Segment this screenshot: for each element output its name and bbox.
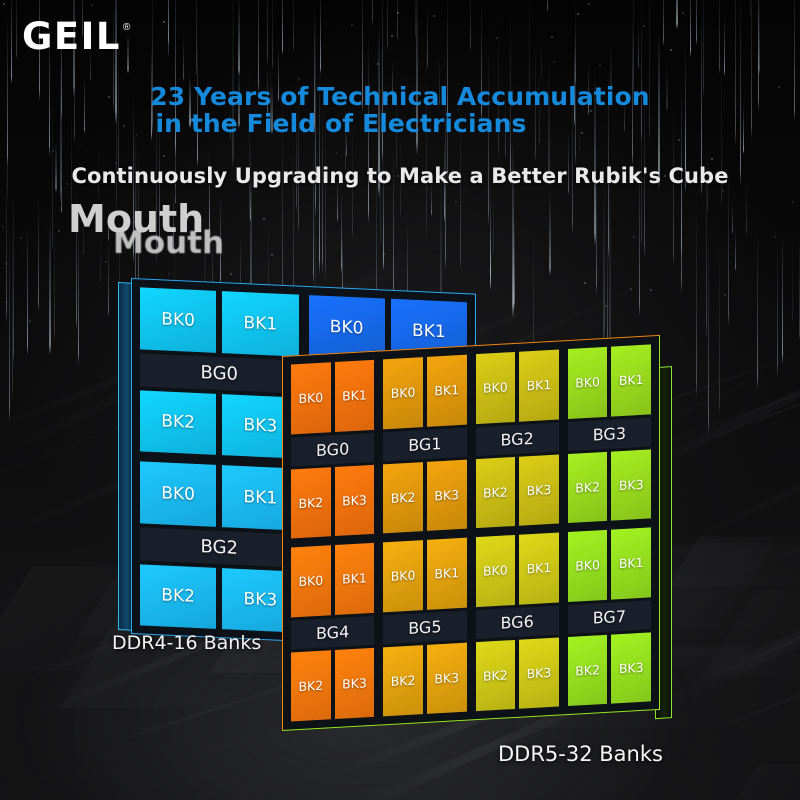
rain-streak (777, 239, 778, 377)
bank-cell: BK2 (291, 650, 331, 722)
bank-cell: BK3 (335, 464, 375, 536)
rain-streak (267, 0, 268, 65)
rain-streak (108, 239, 109, 317)
rain-streak (782, 229, 783, 364)
rain-streak (293, 0, 294, 52)
rain-dot (577, 13, 579, 15)
rain-streak (696, 0, 697, 45)
rain-streak (250, 185, 251, 221)
bank-cell: BK0 (383, 540, 423, 612)
bank-cell: BK3 (427, 459, 467, 531)
bank-row-bottom: BK2BK3 (291, 464, 374, 538)
rain-streak (799, 234, 800, 341)
bank-row-top: BK0BK1 (291, 543, 374, 617)
rain-dot (792, 201, 794, 203)
rain-dot (678, 139, 680, 141)
bank-group: BK0BK1BG3BK2BK3 (565, 341, 654, 526)
bank-cell: BK0 (476, 352, 516, 424)
rain-streak (792, 234, 793, 324)
rain-dot (633, 236, 635, 238)
ddr5-diagram: BK0BK1BG0BK2BK3BK0BK1BG1BK2BK3BK0BK1BG2B… (282, 356, 672, 731)
rain-streak (341, 193, 342, 273)
rain-streak (258, 0, 259, 93)
rain-streak (724, 16, 725, 76)
bank-cell: BK1 (611, 527, 651, 599)
bank-row-bottom: BK2BK3 (291, 647, 374, 721)
bank-cell: BK2 (140, 564, 216, 629)
bank-row-top: BK0BK1 (568, 344, 651, 418)
rain-dot (496, 37, 498, 39)
rain-streak (696, 200, 697, 397)
bank-cell: BK2 (291, 467, 331, 539)
bank-cell: BK3 (519, 637, 559, 709)
rain-streak (49, 219, 51, 355)
rain-streak (415, 0, 416, 39)
rain-dot (724, 294, 726, 296)
bank-row-top: BK0BK1 (383, 538, 466, 612)
bank-cell: BK0 (291, 362, 331, 434)
rain-dot (599, 64, 601, 66)
rain-dot (105, 261, 107, 263)
bank-group-label: BG0 (291, 432, 374, 466)
rain-streak (16, 0, 17, 60)
rain-streak (750, 0, 751, 19)
logo-wordmark: GEIL (22, 18, 121, 55)
rain-dot (91, 4, 93, 6)
bank-row-top: BK0BK1 (476, 533, 559, 607)
bank-row-top: BK0BK1 (476, 350, 559, 424)
ddr5-caption: DDR5-32 Banks (498, 742, 663, 766)
bank-row-bottom: BK2BK3 (383, 459, 466, 533)
bank-cell: BK1 (611, 344, 651, 416)
bank-cell: BK0 (140, 287, 216, 352)
headline-line-1: 23 Years of Technical Accumulation (150, 82, 649, 111)
bank-cell: BK2 (476, 456, 516, 528)
rain-dot (336, 152, 338, 154)
rain-streak (78, 228, 79, 364)
rain-streak (13, 186, 14, 365)
rain-dot (230, 273, 232, 275)
rain-dot (3, 3, 5, 5)
rain-streak (719, 0, 720, 74)
bank-cell: BK1 (427, 538, 467, 610)
bank-cell: BK2 (140, 390, 216, 455)
bank-group-label: BG4 (291, 615, 374, 649)
bank-row-bottom: BK2BK3 (476, 454, 559, 528)
rain-streak (238, 0, 240, 76)
watermark-mouth-secondary: Mouth (113, 228, 224, 259)
rain-streak (547, 0, 548, 11)
bank-row-top: BK0BK1 (291, 360, 374, 434)
bank-cell: BK2 (383, 462, 423, 534)
rain-dot (298, 78, 300, 80)
bank-row-bottom: BK2BK3 (140, 390, 299, 459)
bank-cell: BK0 (568, 347, 608, 419)
bank-row-top: BK0BK1 (140, 287, 299, 356)
bank-group-label: BG6 (476, 605, 559, 639)
rain-streak (719, 236, 720, 416)
bank-group: BK0BK1BG2BK2BK3 (473, 346, 562, 531)
rain-streak (470, 0, 471, 51)
bank-cell: BK0 (140, 461, 216, 526)
rain-streak (196, 0, 197, 76)
bank-cell: BK1 (335, 360, 375, 432)
rain-streak (54, 218, 55, 342)
rain-streak (541, 40, 542, 79)
bank-group: BK0BK1BG6BK2BK3 (473, 529, 562, 714)
bank-group-label: BG7 (568, 600, 651, 634)
rain-streak (282, 0, 283, 55)
bank-row-bottom: BK2BK3 (383, 642, 466, 716)
headline-line-2: in the Field of Electricians (0, 111, 800, 138)
rain-dot (711, 158, 713, 160)
rain-streak (549, 194, 551, 275)
bank-group-label: BG0 (140, 353, 299, 393)
rain-dot (383, 253, 385, 255)
bank-cell: BK1 (335, 543, 375, 615)
rain-streak (663, 0, 664, 46)
rain-streak (11, 0, 12, 84)
rain-streak (690, 0, 691, 57)
geil-logo: GEIL ® (22, 18, 130, 55)
rain-dot (195, 73, 197, 75)
rain-streak (638, 24, 639, 69)
bank-row-top: BK0BK1 (383, 355, 466, 429)
headline: 23 Years of Technical Accumulation in th… (0, 84, 800, 137)
rain-streak (61, 185, 62, 213)
rain-streak (272, 0, 273, 70)
rain-streak (596, 170, 597, 294)
rain-dot (52, 150, 54, 152)
bank-cell: BK1 (427, 355, 467, 427)
bank-cell: BK0 (291, 545, 331, 617)
rain-streak (27, 224, 28, 355)
rain-streak (313, 140, 314, 284)
bank-group-label: BG1 (383, 427, 466, 461)
ddr5-front-face: BK0BK1BG0BK2BK3BK0BK1BG1BK2BK3BK0BK1BG2B… (282, 335, 660, 731)
rain-streak (604, 169, 605, 341)
rain-streak (168, 0, 169, 58)
bank-group-label: BG2 (140, 527, 299, 567)
rain-streak (372, 0, 373, 25)
subtitle: Continuously Upgrading to Make a Better … (0, 164, 800, 188)
rain-dot (20, 237, 22, 239)
bank-group: BK0BK1BG4BK2BK3 (288, 540, 377, 725)
rain-streak (732, 201, 733, 234)
bank-cell: BK1 (519, 350, 559, 422)
bank-group-label: BG5 (383, 610, 466, 644)
bank-cell: BK0 (476, 535, 516, 607)
ddr4-caption: DDR4-16 Banks (112, 632, 261, 654)
bank-cell: BK0 (568, 530, 608, 602)
registered-trademark-icon: ® (123, 22, 130, 33)
bank-cell: BK3 (427, 642, 467, 714)
rain-streak (38, 193, 39, 312)
bank-row-bottom: BK2BK3 (140, 564, 299, 633)
bank-cell: BK2 (568, 451, 608, 523)
bank-group: BK0BK1BG1BK2BK3 (380, 352, 469, 537)
bank-cell: BK2 (383, 645, 423, 717)
bank-group: BK0BK1BG2BK2BK3 (137, 458, 302, 635)
rain-streak (387, 0, 388, 51)
bank-row-top: BK0BK1 (568, 527, 651, 601)
rain-streak (183, 34, 184, 81)
rain-streak (757, 229, 758, 390)
bank-row-bottom: BK2BK3 (568, 632, 651, 706)
bank-row-top: BK0BK1 (140, 461, 299, 530)
bank-cell: BK1 (222, 291, 298, 356)
rain-dot (271, 254, 273, 256)
bank-group: BK0BK1BG7BK2BK3 (565, 524, 654, 709)
bank-group: BK0BK1BG5BK2BK3 (380, 535, 469, 720)
bank-cell: BK2 (568, 634, 608, 706)
bank-cell: BK3 (335, 647, 375, 719)
bank-group-label: BG3 (568, 417, 651, 451)
rain-streak (397, 0, 398, 42)
rain-streak (209, 149, 210, 236)
rain-dot (682, 12, 684, 14)
bank-cell: BK2 (476, 639, 516, 711)
bank-group: BK0BK1BG0BK2BK3 (288, 357, 377, 542)
rain-dot (29, 320, 31, 322)
rain-streak (493, 182, 494, 255)
rain-streak (514, 218, 515, 308)
bank-cell: BK3 (519, 454, 559, 526)
rain-dot (58, 230, 60, 232)
bank-cell: BK0 (383, 357, 423, 429)
bank-cell: BK3 (611, 449, 651, 521)
rain-streak (728, 166, 729, 326)
rain-streak (703, 0, 704, 97)
rain-streak (427, 2, 428, 69)
rain-dot (163, 21, 165, 23)
bank-group: BK0BK1BG0BK2BK3 (137, 284, 302, 461)
rain-dot (588, 3, 590, 5)
ddr5-bank-group-grid: BK0BK1BG0BK2BK3BK0BK1BG1BK2BK3BK0BK1BG2B… (288, 341, 654, 724)
rain-streak (708, 230, 709, 436)
rain-dot (433, 15, 435, 17)
rain-streak (320, 0, 321, 74)
rain-streak (735, 228, 736, 271)
rain-streak (676, 0, 678, 29)
rain-streak (9, 219, 10, 423)
rain-streak (490, 184, 491, 291)
bank-cell: BK3 (611, 632, 651, 704)
bank-group-label: BG2 (476, 422, 559, 456)
bank-row-bottom: BK2BK3 (476, 637, 559, 711)
rain-dot (722, 190, 724, 192)
rain-dot (643, 25, 645, 27)
bank-cell: BK1 (519, 533, 559, 605)
bank-row-bottom: BK2BK3 (568, 449, 651, 523)
rain-dot (79, 144, 81, 146)
